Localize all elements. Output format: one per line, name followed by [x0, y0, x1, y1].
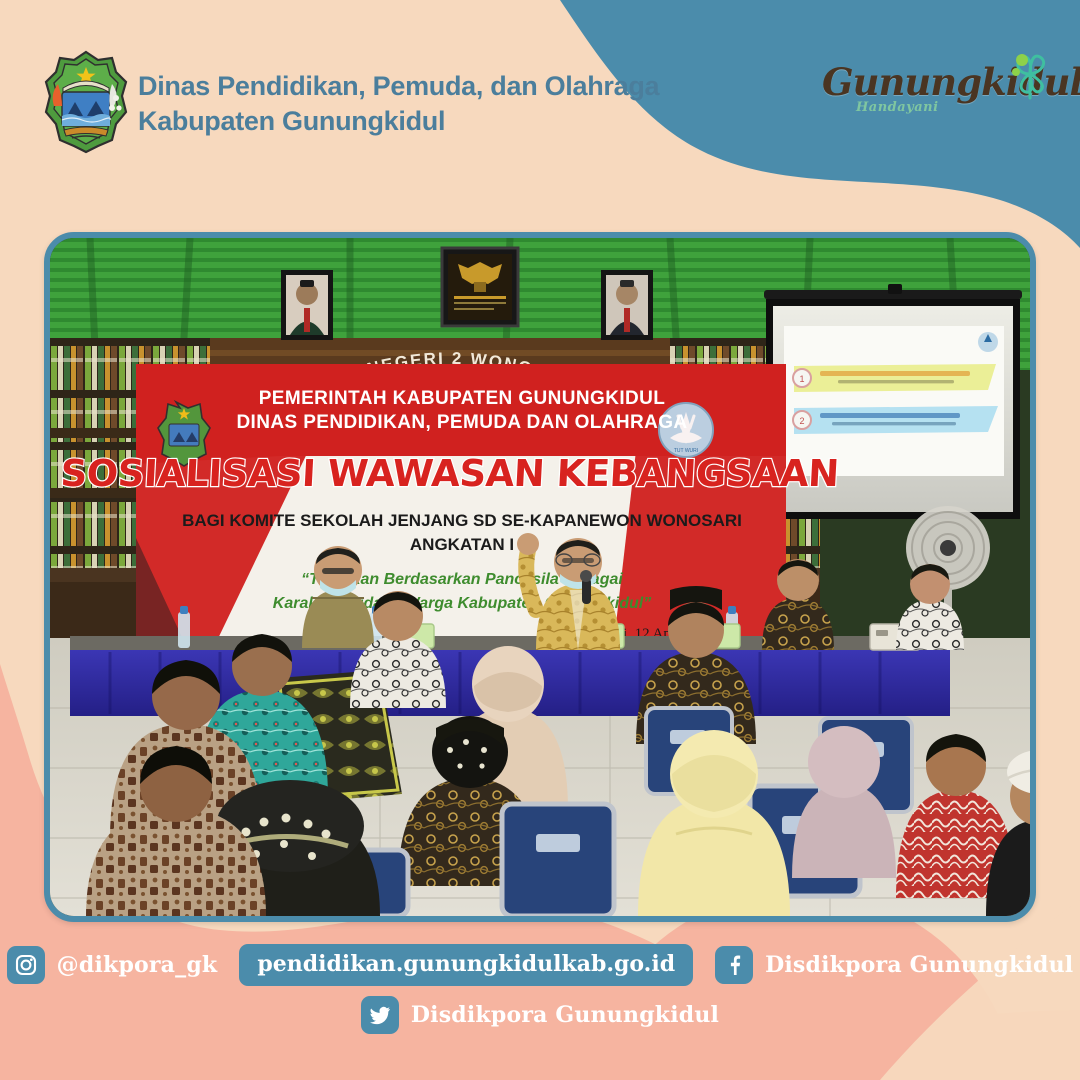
garuda-pancasila-icon — [442, 248, 518, 326]
slide-row-2-number: 2 — [799, 416, 804, 426]
website-url[interactable]: pendidikan.gunungkidulkab.go.id — [239, 944, 693, 986]
gunungkidul-coat-of-arms-icon — [42, 50, 130, 154]
event-photograph: NEGERI 2 WONO 1 2 — [50, 238, 1030, 916]
facebook-icon[interactable] — [715, 946, 753, 984]
svg-text:SOSIALISASI WAWASAN KEBANGSAAN: SOSIALISASI WAWASAN KEBANGSAAN — [60, 452, 840, 495]
footer-row-primary: @dikpora_gk pendidikan.gunungkidulkab.go… — [0, 944, 1080, 986]
president-portrait-icon — [281, 270, 333, 340]
facebook-page-name: Disdikpora Gunungkidul — [765, 952, 1073, 978]
twitter-link[interactable]: Disdikpora Gunungkidul — [361, 996, 719, 1034]
event-photo-card: NEGERI 2 WONO 1 2 — [44, 232, 1036, 922]
banner-subtitle: BAGI KOMITE SEKOLAH JENJANG SD SE-KAPANE… — [182, 511, 742, 530]
twitter-icon[interactable] — [361, 996, 399, 1034]
banner-batch: ANGKATAN I — [410, 535, 514, 554]
org-line-2: Kabupaten Gunungkidul — [138, 105, 659, 137]
instagram-handle: @dikpora_gk — [57, 952, 218, 978]
banner-line-dept: DINAS PENDIDIKAN, PEMUDA DAN OLAHRAGA — [236, 412, 687, 433]
page-footer: @dikpora_gk pendidikan.gunungkidulkab.go… — [0, 930, 1080, 1080]
twitter-account-name: Disdikpora Gunungkidul — [411, 1002, 719, 1028]
instagram-icon[interactable] — [7, 946, 45, 984]
org-line-1: Dinas Pendidikan, Pemuda, dan Olahraga — [138, 70, 659, 102]
slide-row-1-number: 1 — [799, 374, 804, 384]
banner-line-gov: PEMERINTAH KABUPATEN GUNUNGKIDUL — [259, 388, 666, 409]
chair — [502, 804, 614, 916]
brand-tagline: Handayani — [856, 100, 939, 115]
footer-row-secondary: Disdikpora Gunungkidul — [0, 996, 1080, 1034]
facebook-link[interactable]: Disdikpora Gunungkidul — [715, 946, 1073, 984]
vice-president-portrait-icon — [601, 270, 653, 340]
page-title: Dinas Pendidikan, Pemuda, dan Olahraga K… — [138, 70, 659, 137]
gunungkidul-brand-logo: Gunungkidul Handayani — [822, 44, 1062, 130]
instagram-link[interactable]: @dikpora_gk — [7, 946, 218, 984]
page-header: Dinas Pendidikan, Pemuda, dan Olahraga K… — [0, 0, 1080, 210]
banner-title: SOSIALISASI WAWASAN KEBANGSAAN — [60, 452, 840, 495]
green-flourish-icon — [1002, 44, 1058, 100]
